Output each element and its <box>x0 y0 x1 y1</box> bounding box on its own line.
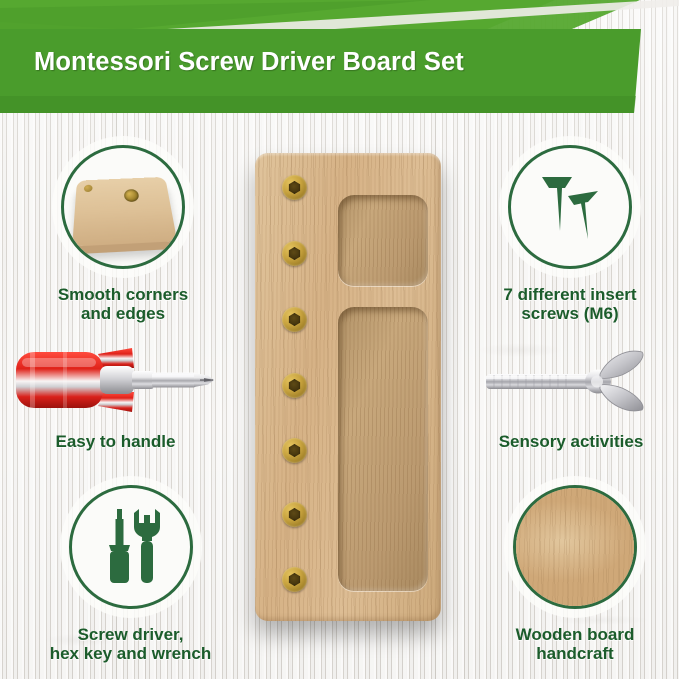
brass-insert-1 <box>282 175 307 200</box>
header-banner: Montessori Screw Driver Board Set <box>0 0 679 125</box>
hex-socket-icon <box>288 573 301 586</box>
hex-socket-icon <box>288 313 301 326</box>
brass-insert-4 <box>282 373 307 398</box>
tools-circle <box>69 485 193 609</box>
hex-socket-icon <box>288 181 301 194</box>
caption-line-1: Screw driver, <box>48 625 213 644</box>
feature-caption-wooden-board: Wooden board handcraft <box>495 625 655 663</box>
red-screwdriver-photo <box>8 338 224 422</box>
feature-sensory-activities: Sensory activities <box>466 338 676 451</box>
caption-line-1: Smooth corners <box>48 285 198 304</box>
feature-caption-smooth-corners: Smooth corners and edges <box>48 285 198 323</box>
feature-caption-insert-screws: 7 different insert screws (M6) <box>495 285 645 323</box>
feature-smooth-corners: Smooth corners and edges <box>48 145 198 323</box>
hex-socket-icon <box>288 379 301 392</box>
brass-insert-6 <box>282 502 307 527</box>
wooden-board-circle <box>513 485 637 609</box>
two-nails-icon <box>532 169 608 245</box>
caption-line-1: 7 different insert <box>495 285 645 304</box>
board-recess-bottom <box>338 307 428 591</box>
hex-socket-icon <box>288 508 301 521</box>
insert-screws-circle <box>508 145 632 269</box>
feature-wooden-board: Wooden board handcraft <box>495 485 655 663</box>
brass-insert-7 <box>282 567 307 592</box>
wood-block-photo <box>72 177 177 247</box>
feature-insert-screws: 7 different insert screws (M6) <box>495 145 645 323</box>
hex-socket-icon <box>288 247 301 260</box>
caption-line-2: screws (M6) <box>495 304 645 323</box>
caption-line-2: handcraft <box>495 644 655 663</box>
feature-easy-to-handle: Easy to handle <box>3 338 228 451</box>
hex-socket-icon <box>288 444 301 457</box>
smooth-corners-circle <box>61 145 185 269</box>
caption-line-1: Wooden board <box>495 625 655 644</box>
page-title: Montessori Screw Driver Board Set <box>34 48 464 77</box>
feature-caption-easy-to-handle: Easy to handle <box>3 432 228 451</box>
caption-line-2: and edges <box>48 304 198 323</box>
banner-main-bar-shade <box>0 96 636 113</box>
caption-line-2: hex key and wrench <box>48 644 213 663</box>
board-recess-top <box>338 195 428 286</box>
feature-caption-tools: Screw driver, hex key and wrench <box>48 625 213 663</box>
brass-insert-2 <box>282 241 307 266</box>
feature-tools: Screw driver, hex key and wrench <box>48 485 213 663</box>
brass-insert-3 <box>282 307 307 332</box>
wing-bolt-photo <box>476 338 666 422</box>
sensory-activities-media <box>466 338 676 422</box>
easy-to-handle-media <box>3 338 228 422</box>
screwdriver-wrench-icon <box>93 507 169 587</box>
caption-line-1: Sensory activities <box>466 432 676 451</box>
wood-grain-circle <box>516 488 634 606</box>
montessori-screw-board <box>255 153 441 621</box>
feature-caption-sensory-activities: Sensory activities <box>466 432 676 451</box>
brass-insert-5 <box>282 438 307 463</box>
caption-line-1: Easy to handle <box>3 432 228 451</box>
